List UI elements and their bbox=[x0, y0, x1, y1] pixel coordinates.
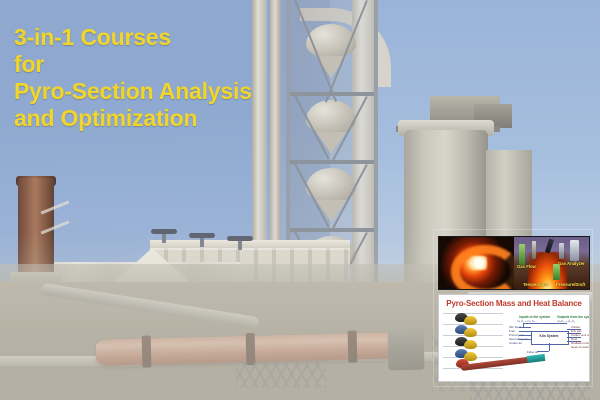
title-line-4: and Optimization bbox=[14, 105, 314, 132]
mass-heat-balance-title: Pyro-Section Mass and Heat Balance bbox=[439, 299, 589, 308]
flame-core bbox=[471, 256, 488, 271]
process-measurement-diagram: Gas Flow Gas Analyzer Temperature Pressu… bbox=[514, 237, 589, 289]
inputs-header: Inputs to the system bbox=[519, 315, 550, 320]
label-gas-flow: Gas Flow bbox=[517, 265, 536, 270]
preheater-schematic bbox=[455, 313, 471, 367]
heat-balance-flowchart: Kiln System Inputs to the system Outputs… bbox=[509, 315, 589, 359]
title-line-3: Pyro-Section Analysis bbox=[14, 78, 314, 105]
probe-icon bbox=[532, 241, 536, 259]
label-pressure-draft: Pressure/Draft bbox=[556, 282, 585, 287]
output-item-4: Radiation loss bbox=[571, 342, 590, 345]
output-item-5: Heat of reaction bbox=[571, 346, 590, 349]
title-line-1: 3-in-1 Courses bbox=[14, 24, 314, 51]
gas-analyzer-icon bbox=[570, 240, 579, 261]
inset-mass-heat-balance[interactable]: Pyro-Section Mass and Heat Balance Kiln … bbox=[438, 294, 590, 382]
kiln-flame-photo bbox=[439, 237, 514, 289]
input-item-1: Fuel bbox=[509, 330, 515, 333]
gas-flow-sensor-icon bbox=[519, 244, 525, 265]
label-gas-analyzer: Gas Analyzer bbox=[558, 262, 585, 267]
label-temperature: Temperature bbox=[523, 282, 548, 287]
inset-panel-group: Gas Flow Gas Analyzer Temperature Pressu… bbox=[434, 230, 592, 386]
outputs-header: Outputs from the system bbox=[557, 315, 590, 320]
slide-title: 3-in-1 Courses for Pyro-Section Analysis… bbox=[14, 24, 314, 133]
draft-gauge-icon bbox=[559, 243, 564, 259]
input-item-4: Cooler air bbox=[509, 342, 522, 345]
slide-canvas: 3-in-1 Courses for Pyro-Section Analysis… bbox=[0, 0, 600, 400]
system-box-label: Kiln System bbox=[529, 334, 569, 338]
title-line-2: for bbox=[14, 51, 314, 78]
inset-measurement-montage[interactable]: Gas Flow Gas Analyzer Temperature Pressu… bbox=[438, 236, 590, 290]
